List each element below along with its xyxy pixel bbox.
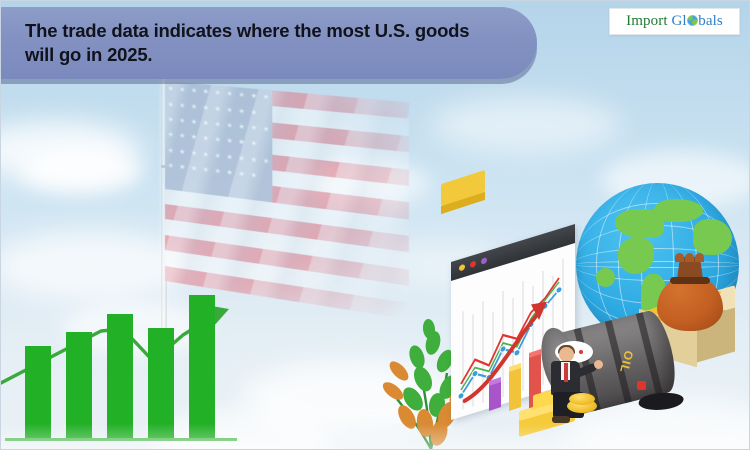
star-icon: ★	[191, 165, 197, 173]
star-icon: ★	[179, 164, 185, 172]
star-icon: ★	[238, 123, 245, 131]
star-icon: ★	[203, 166, 209, 174]
star-icon: ★	[226, 138, 233, 146]
person-hand	[594, 360, 603, 369]
star-icon: ★	[238, 92, 245, 100]
brand-logo-word-import: Import	[626, 13, 667, 29]
star-icon: ★	[250, 172, 257, 180]
gold-coins	[569, 393, 595, 405]
global-trade-isometric-illustration: OIL	[441, 177, 750, 450]
flag-stars: ★★★★★★★★★ ★★★★★★★★ ★★★★★★★★★ ★★★★★★★★ ★★…	[165, 81, 272, 202]
star-icon: ★	[168, 116, 174, 124]
star-icon: ★	[214, 90, 220, 98]
star-icon: ★	[238, 139, 245, 147]
star-icon: ★	[179, 86, 185, 94]
star-icon: ★	[214, 152, 220, 160]
mini-bar-yellow	[509, 367, 521, 411]
star-icon: ★	[263, 126, 270, 134]
star-icon: ★	[168, 147, 174, 155]
window-dot-purple[interactable]	[481, 257, 487, 265]
oil-spill	[637, 393, 686, 410]
star-icon: ★	[191, 134, 197, 142]
businessman-figure	[541, 347, 597, 425]
bar-5	[189, 295, 215, 438]
star-icon: ★	[179, 102, 185, 110]
star-icon: ★	[179, 148, 185, 156]
money-bag-fold	[675, 253, 684, 262]
globe-icon	[687, 15, 698, 26]
brand-logo[interactable]: Import Glbals	[609, 8, 740, 35]
star-icon: ★	[203, 135, 209, 143]
star-icon: ★	[250, 109, 257, 117]
star-icon: ★	[191, 119, 197, 127]
star-icon: ★	[179, 133, 185, 141]
window-dot-yellow[interactable]	[459, 264, 465, 272]
promotional-banner-image: ★★★★★★★★★ ★★★★★★★★ ★★★★★★★★★ ★★★★★★★★ ★★…	[0, 0, 750, 450]
star-icon: ★	[203, 89, 209, 97]
star-icon: ★	[168, 85, 174, 93]
star-icon: ★	[191, 103, 197, 111]
star-icon: ★	[214, 168, 220, 176]
oil-barrel-valve	[637, 381, 646, 390]
headline-banner: The trade data indicates where the most …	[0, 7, 537, 79]
star-icon: ★	[203, 151, 209, 159]
brand-logo-word-bals: bals	[698, 13, 723, 29]
star-icon: ★	[226, 91, 233, 99]
star-icon: ★	[168, 162, 174, 170]
person-tie	[564, 363, 568, 382]
mini-bar-purple	[489, 381, 501, 411]
person-shoe	[552, 416, 570, 423]
star-icon: ★	[226, 122, 233, 130]
flag-canton: ★★★★★★★★★ ★★★★★★★★ ★★★★★★★★★ ★★★★★★★★ ★★…	[165, 81, 272, 202]
star-icon: ★	[238, 155, 245, 163]
brand-logo-text: Import Glbals	[626, 13, 723, 30]
star-icon: ★	[168, 132, 174, 140]
money-bag-fold	[685, 253, 694, 262]
bar-2	[66, 332, 92, 438]
page-title: The trade data indicates where the most …	[0, 19, 537, 67]
united-states-flag: ★★★★★★★★★ ★★★★★★★★ ★★★★★★★★★ ★★★★★★★★ ★★…	[141, 79, 391, 339]
chart-baseline	[5, 438, 237, 441]
star-icon: ★	[203, 104, 209, 112]
money-bag-tie	[670, 277, 710, 284]
window-dot-red[interactable]	[470, 260, 476, 268]
star-icon: ★	[203, 120, 209, 128]
star-icon: ★	[238, 171, 245, 179]
star-icon: ★	[214, 137, 220, 145]
star-icon: ★	[226, 154, 233, 162]
bar-1	[25, 346, 51, 438]
star-icon: ★	[214, 121, 220, 129]
star-icon: ★	[226, 106, 233, 114]
brand-logo-word-gl: Gl	[671, 13, 686, 29]
star-icon: ★	[214, 105, 220, 113]
star-icon: ★	[250, 93, 257, 101]
flag-cloth: ★★★★★★★★★ ★★★★★★★★ ★★★★★★★★★ ★★★★★★★★ ★★…	[165, 81, 409, 320]
star-icon: ★	[250, 140, 257, 148]
star-icon: ★	[263, 158, 270, 166]
star-icon: ★	[191, 87, 197, 95]
star-icon: ★	[250, 156, 257, 164]
bar-4	[148, 328, 174, 438]
money-bag-fold	[695, 253, 704, 262]
star-icon: ★	[191, 150, 197, 158]
star-icon: ★	[179, 117, 185, 125]
star-icon: ★	[238, 108, 245, 116]
person-head	[559, 347, 574, 362]
star-icon: ★	[226, 169, 233, 177]
star-icon: ★	[250, 125, 257, 133]
bar-3	[107, 314, 133, 438]
star-icon: ★	[168, 101, 174, 109]
growth-bar-chart	[1, 301, 243, 447]
star-icon: ★	[263, 94, 270, 102]
